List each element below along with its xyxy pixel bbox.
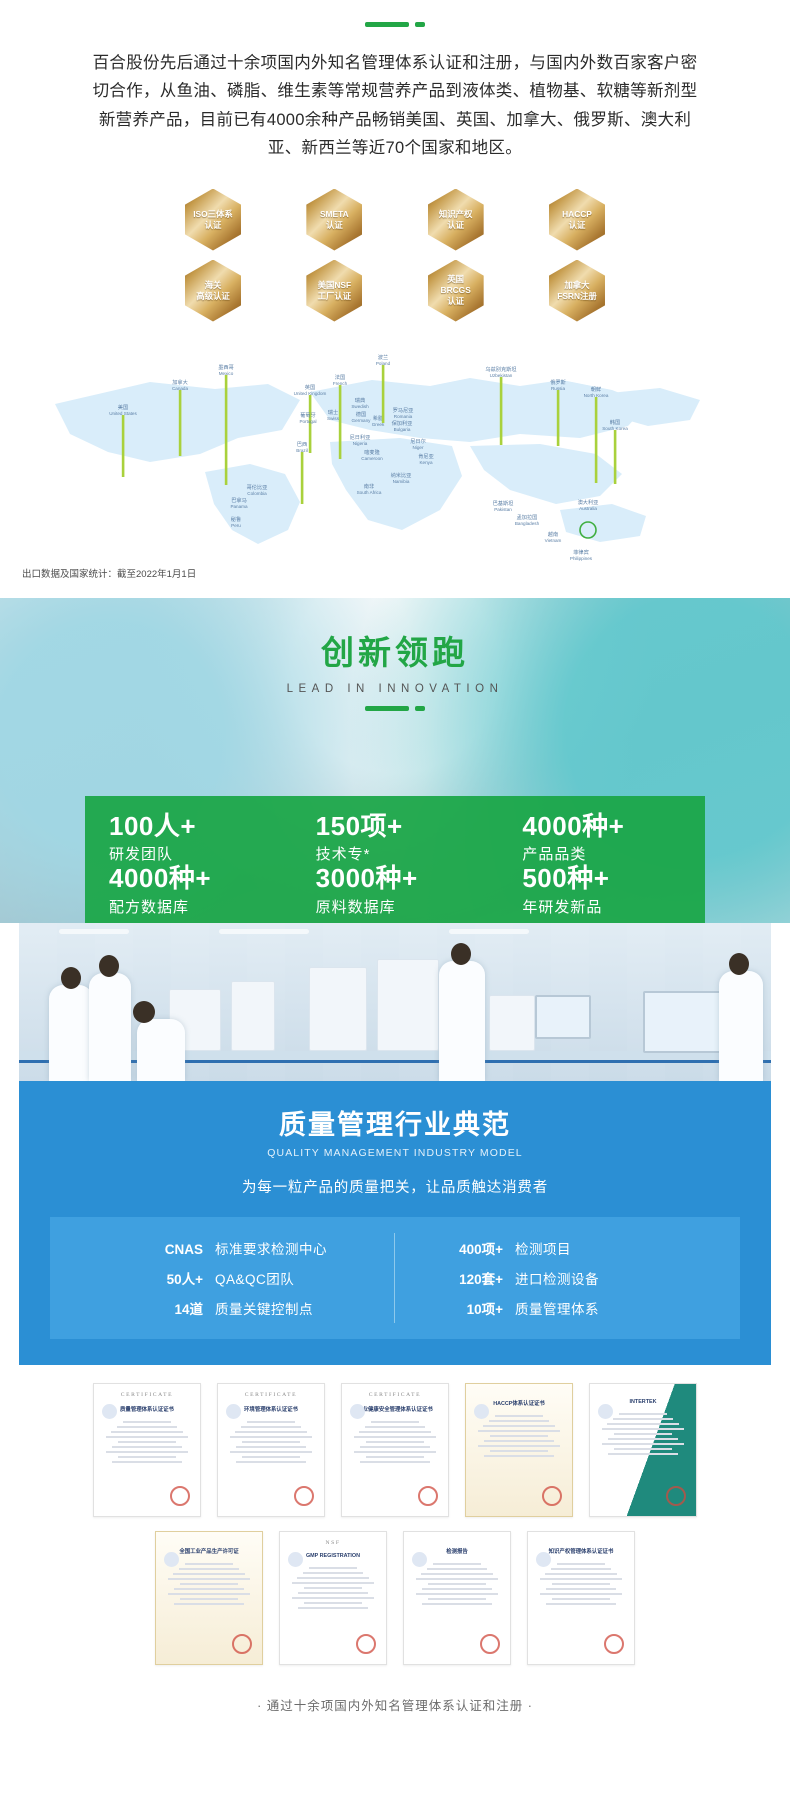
- certificate-seal-icon: [294, 1486, 314, 1506]
- certificate-body-lines: [475, 1415, 563, 1457]
- quality-lead: 为每一粒产品的质量把关，让品质触达消费者: [19, 1176, 771, 1197]
- quality-item-qaqc: 50人+ QA&QC团队: [95, 1263, 394, 1293]
- map-label-cn: 澳大利亚: [578, 498, 599, 506]
- stat-rd-team: 100人+ 研发团队: [85, 812, 292, 865]
- innovation-title: 创新领跑: [0, 626, 790, 674]
- map-label-en: Peru: [231, 523, 241, 528]
- map-label-cn: 法国: [335, 373, 345, 381]
- map-label-cn: 哥伦比亚: [247, 483, 268, 491]
- map-label-cn: 葡萄牙: [300, 411, 316, 419]
- map-label-cn: 加拿大: [172, 378, 188, 386]
- certificate-header: NSF: [280, 1532, 386, 1546]
- certificate-seal-icon: [356, 1634, 376, 1654]
- map-export-bar: [339, 385, 342, 459]
- quality-title: 质量管理行业典范: [19, 1103, 771, 1142]
- certificate-card[interactable]: CERTIFICATE职业健康安全管理体系认证证书: [341, 1383, 449, 1517]
- quality-value: 标准要求检测中心: [215, 1238, 327, 1258]
- badge-line1: HACCP: [562, 209, 592, 220]
- map-label-cn: 喀麦隆: [364, 448, 380, 456]
- badge-line1: 加拿大: [564, 280, 589, 291]
- map-label-cn: 肯尼亚: [418, 452, 434, 460]
- quality-stats-panel: CNAS 标准要求检测中心 50人+ QA&QC团队 14道 质量关键控制点 4…: [50, 1217, 740, 1339]
- map-label-cn: 美国: [118, 403, 128, 411]
- innovation-section: 创新领跑 LEAD IN INNOVATION 100人+ 研发团队 150项+…: [0, 598, 790, 923]
- certificate-seal-icon: [480, 1634, 500, 1654]
- map-label-en: Australia: [579, 506, 597, 511]
- badge-brcgs[interactable]: 英国 BRCGS 认证: [428, 260, 484, 322]
- map-label-en: Niger: [413, 445, 424, 450]
- certificate-header: [404, 1532, 510, 1540]
- certificate-header: [528, 1532, 634, 1540]
- map-label-cn: 尼日尔: [410, 437, 426, 445]
- map-label-en: North Korea: [584, 393, 609, 398]
- badge-iso[interactable]: ISO三体系 认证: [185, 189, 241, 251]
- map-label-cn: 越南: [548, 530, 558, 538]
- world-map: 美国United States加拿大Canada墨西哥Mexico巴拿马Pana…: [0, 334, 790, 562]
- map-label-en: Mexico: [219, 371, 234, 376]
- quality-item-systems: 10项+ 质量管理体系: [395, 1293, 695, 1323]
- lab-technician: [49, 985, 93, 1081]
- certificate-seal-icon: [542, 1486, 562, 1506]
- badge-ip[interactable]: 知识产权 认证: [428, 189, 484, 251]
- certificate-seal-icon: [232, 1634, 252, 1654]
- certificate-body-lines: [289, 1567, 377, 1609]
- map-label-cn: 孟加拉国: [517, 513, 538, 521]
- map-export-bar: [614, 430, 617, 484]
- world-map-svg: 美国United States加拿大Canada墨西哥Mexico巴拿马Pana…: [0, 334, 790, 562]
- map-label-cn: 保加利亚: [392, 419, 413, 427]
- quality-column-right: 400项+ 检测项目 120套+ 进口检测设备 10项+ 质量管理体系: [395, 1233, 695, 1323]
- intro-paragraph: 百合股份先后通过十余项国内外知名管理体系认证和注册，与国内外数百家客户密切合作，…: [85, 49, 705, 163]
- top-divider: [0, 22, 790, 27]
- stats-row-2: 4000种+ 配方数据库 3000种+ 原料数据库 500种+ 年研发新品: [85, 864, 705, 917]
- stat-formula-db: 4000种+ 配方数据库: [85, 864, 292, 917]
- map-label-en: Romania: [394, 414, 413, 419]
- certificate-emblem-icon: [102, 1404, 117, 1419]
- map-export-bar: [382, 365, 385, 423]
- certificate-card[interactable]: 检测报告: [403, 1531, 511, 1665]
- technician-head: [99, 955, 119, 977]
- map-label-cn: 希腊: [373, 414, 383, 422]
- map-label-cn: 瑞士: [328, 408, 338, 416]
- certificate-row-2: 全国工业产品生产许可证NSFGMP REGISTRATION检测报告知识产权管理…: [22, 1531, 768, 1665]
- technician-head: [451, 943, 471, 965]
- certificate-emblem-icon: [536, 1552, 551, 1567]
- badge-fsrn[interactable]: 加拿大 FSRN注册: [549, 260, 605, 322]
- map-label-cn: 秘鲁: [231, 515, 241, 523]
- quality-item-equipment: 120套+ 进口检测设备: [395, 1263, 695, 1293]
- certificate-card[interactable]: 全国工业产品生产许可证: [155, 1531, 263, 1665]
- innovation-divider: [0, 706, 790, 711]
- ceiling-lamp: [219, 929, 309, 934]
- divider-bar-long: [365, 22, 409, 27]
- quality-key: 14道: [141, 1298, 203, 1318]
- map-label-en: Cameroon: [361, 456, 383, 461]
- map-label-en: Germany: [352, 418, 372, 423]
- technician-head: [729, 953, 749, 975]
- certificate-seal-icon: [418, 1486, 438, 1506]
- badge-line2: 认证: [569, 220, 586, 231]
- lab-technician: [89, 973, 131, 1081]
- stat-label: 年研发新品: [522, 896, 705, 917]
- world-map-section: 美国United States加拿大Canada墨西哥Mexico巴拿马Pana…: [0, 334, 790, 580]
- certificate-emblem-icon: [288, 1552, 303, 1567]
- certificate-header: CERTIFICATE: [218, 1384, 324, 1398]
- map-export-bar: [225, 375, 228, 485]
- lab-monitor: [535, 995, 591, 1039]
- map-export-bar: [500, 377, 503, 445]
- badge-line1: 知识产权: [439, 209, 473, 220]
- stat-number: 4000种+: [109, 864, 292, 894]
- intro-section: 百合股份先后通过十余项国内外知名管理体系认证和注册，与国内外数百家客户密切合作，…: [0, 0, 790, 163]
- map-label-cn: 英国: [305, 383, 315, 391]
- certificate-card[interactable]: HACCP体系认证证书: [465, 1383, 573, 1517]
- map-label-cn: 巴西: [297, 441, 307, 448]
- map-label-en: Namibia: [393, 479, 410, 484]
- map-export-bar: [595, 397, 598, 483]
- map-label-en: Portugal: [299, 419, 316, 424]
- certificate-body-lines: [103, 1421, 191, 1463]
- quality-key: 50人+: [141, 1268, 203, 1288]
- map-label-en: Canada: [172, 386, 189, 391]
- stat-label: 原料数据库: [316, 896, 499, 917]
- map-label-en: Philippines: [570, 556, 593, 561]
- map-label-cn: 德国: [356, 410, 366, 418]
- quality-key: 400项+: [441, 1238, 503, 1258]
- quality-key: 120套+: [441, 1268, 503, 1288]
- certificate-seal-icon: [170, 1486, 190, 1506]
- badge-line2: 认证: [205, 220, 222, 231]
- quality-item-test-items: 400项+ 检测项目: [395, 1233, 695, 1263]
- technician-head: [133, 1001, 155, 1023]
- stat-number: 500种+: [522, 864, 705, 894]
- stat-number: 4000种+: [522, 812, 705, 842]
- badge-nsf[interactable]: 美国NSF 工厂认证: [306, 260, 362, 322]
- quality-value: 进口检测设备: [515, 1268, 599, 1288]
- ceiling-lamp: [449, 929, 529, 934]
- divider-bar-dot: [415, 706, 425, 711]
- badge-line2: 认证: [447, 220, 464, 231]
- lab-instrument: [231, 981, 275, 1051]
- quality-value: 质量管理体系: [515, 1298, 599, 1318]
- innovation-header: 创新领跑 LEAD IN INNOVATION: [0, 598, 790, 711]
- map-label-en: Swedish: [351, 404, 369, 409]
- certificate-header: [156, 1532, 262, 1540]
- stat-material-db: 3000种+ 原料数据库: [292, 864, 499, 917]
- stat-label: 产品品类: [522, 843, 705, 864]
- stat-label: 技术专*: [316, 843, 499, 864]
- laboratory-photo: [19, 923, 771, 1081]
- quality-value: 质量关键控制点: [215, 1298, 313, 1318]
- lab-instrument: [309, 967, 367, 1051]
- badge-line1: 美国NSF: [318, 280, 352, 291]
- map-label-en: South Korea: [602, 426, 628, 431]
- map-label-en: Brazil: [296, 448, 308, 453]
- certificate-card[interactable]: CERTIFICATE环境管理体系认证证书: [217, 1383, 325, 1517]
- divider-bar-long: [365, 706, 409, 711]
- map-label-en: United Kingdom: [294, 391, 327, 396]
- certificate-header: [466, 1384, 572, 1392]
- lab-technician: [719, 971, 763, 1081]
- map-label-en: Colombia: [247, 491, 267, 496]
- page-footer: · 通过十余项国内外知名管理体系认证和注册 ·: [0, 1685, 790, 1736]
- map-export-bar: [122, 415, 125, 477]
- stat-number: 100人+: [109, 812, 292, 842]
- badge-line1: SMETA: [320, 209, 349, 220]
- badge-row-2: 海关 高级认证 美国NSF 工厂认证 英国 BRCGS 认证 加拿大 FSRN注…: [185, 260, 605, 322]
- stat-number: 3000种+: [316, 864, 499, 894]
- quality-key: CNAS: [141, 1242, 203, 1257]
- certificate-body-lines: [351, 1421, 439, 1463]
- badge-line1: ISO三体系: [193, 209, 233, 220]
- map-label-cn: 波兰: [378, 353, 388, 361]
- map-label-en: Bulgaria: [394, 427, 411, 432]
- map-label-cn: 朝鲜: [591, 385, 601, 393]
- map-label-en: Vietnam: [545, 538, 562, 543]
- badge-haccp[interactable]: HACCP 认证: [549, 189, 605, 251]
- map-label-cn: 巴基斯坦: [493, 499, 514, 507]
- map-label-cn: 菲律宾: [573, 548, 589, 556]
- quality-value: 检测项目: [515, 1238, 571, 1258]
- certificate-emblem-icon: [226, 1404, 241, 1419]
- badge-row-1: ISO三体系 认证 SMETA 认证 知识产权 认证 HACCP 认证: [185, 189, 605, 251]
- map-label-cn: 俄罗斯: [550, 378, 566, 386]
- stats-row-1: 100人+ 研发团队 150项+ 技术专* 4000种+ 产品品类: [85, 812, 705, 865]
- certificate-emblem-icon: [164, 1552, 179, 1567]
- technician-head: [61, 967, 81, 989]
- certificate-seal-icon: [604, 1634, 624, 1654]
- quality-subtitle: QUALITY MANAGEMENT INDUSTRY MODEL: [19, 1147, 771, 1159]
- certificate-header: [590, 1384, 696, 1392]
- certificate-header: CERTIFICATE: [94, 1384, 200, 1398]
- quality-key: 10项+: [441, 1298, 503, 1318]
- stat-product-categories: 4000种+ 产品品类: [498, 812, 705, 865]
- certificate-emblem-icon: [474, 1404, 489, 1419]
- badge-line2: 工厂认证: [318, 291, 352, 302]
- quality-value: QA&QC团队: [215, 1268, 294, 1288]
- innovation-subtitle: LEAD IN INNOVATION: [0, 683, 790, 695]
- map-label-en: Russia: [551, 386, 565, 391]
- certificate-body-lines: [165, 1563, 253, 1605]
- badge-line2: FSRN注册: [557, 291, 597, 302]
- certificate-row-1: CERTIFICATE质量管理体系认证证书CERTIFICATE环境管理体系认证…: [22, 1383, 768, 1517]
- certificate-emblem-icon: [412, 1552, 427, 1567]
- lab-technician: [137, 1019, 185, 1081]
- badge-line3: 认证: [447, 296, 464, 307]
- map-label-en: United States: [109, 411, 137, 416]
- certificate-body-lines: [599, 1413, 687, 1455]
- map-label-cn: 南非: [364, 482, 374, 490]
- certificate-emblem-icon: [598, 1404, 613, 1419]
- stat-new-products: 500种+ 年研发新品: [498, 864, 705, 917]
- certificate-body-lines: [227, 1421, 315, 1463]
- map-export-bar: [557, 390, 560, 446]
- stat-label: 配方数据库: [109, 896, 292, 917]
- map-footnote: 出口数据及国家统计：截至2022年1月1日: [0, 562, 790, 580]
- map-label-cn: 瑞典: [355, 396, 365, 404]
- certificate-body-lines: [413, 1563, 501, 1605]
- certificate-header: CERTIFICATE: [342, 1384, 448, 1398]
- lab-instrument: [489, 995, 535, 1051]
- certification-badges: ISO三体系 认证 SMETA 认证 知识产权 认证 HACCP 认证 海关 高…: [185, 189, 605, 322]
- badge-line2: BRCGS: [441, 285, 471, 296]
- map-label-en: Swiss: [327, 416, 340, 421]
- badge-line2: 高级认证: [196, 291, 230, 302]
- badge-line1: 海关: [205, 280, 222, 291]
- certificate-card[interactable]: NSFGMP REGISTRATION: [279, 1531, 387, 1665]
- map-label-cn: 尼日利亚: [350, 433, 371, 441]
- innovation-stats-panel: 100人+ 研发团队 150项+ 技术专* 4000种+ 产品品类 4000种+…: [85, 796, 705, 923]
- stat-label: 研发团队: [109, 843, 292, 864]
- map-label-en: Pakistan: [494, 507, 512, 512]
- map-label-en: Nigeria: [353, 441, 368, 446]
- map-export-bar: [179, 390, 182, 456]
- map-label-cn: 韩国: [610, 418, 620, 426]
- quality-section: 质量管理行业典范 QUALITY MANAGEMENT INDUSTRY MOD…: [19, 1081, 771, 1365]
- map-export-bar: [309, 395, 312, 453]
- map-label-cn: 纳米比亚: [391, 471, 412, 479]
- map-label-en: South Africa: [357, 490, 382, 495]
- certificate-card[interactable]: CERTIFICATE质量管理体系认证证书: [93, 1383, 201, 1517]
- map-label-en: Uzbekistan: [490, 373, 513, 378]
- map-label-en: Poland: [376, 361, 391, 366]
- map-label-en: Panama: [230, 504, 248, 509]
- certificates-gallery: CERTIFICATE质量管理体系认证证书CERTIFICATE环境管理体系认证…: [0, 1365, 790, 1685]
- map-label-en: Bangladesh: [515, 521, 540, 526]
- quality-item-control-points: 14道 质量关键控制点: [95, 1293, 394, 1323]
- map-landmasses: [55, 378, 700, 544]
- certificate-body-lines: [537, 1563, 625, 1605]
- map-label-cn: 罗马尼亚: [393, 406, 414, 414]
- divider-bar-dot: [415, 22, 425, 27]
- stat-number: 150项+: [316, 812, 499, 842]
- badge-smeta[interactable]: SMETA 认证: [306, 189, 362, 251]
- map-label-en: French: [333, 381, 348, 386]
- badge-line1: 英国: [447, 274, 464, 285]
- product-detail-page: 百合股份先后通过十余项国内外知名管理体系认证和注册，与国内外数百家客户密切合作，…: [0, 0, 790, 1736]
- certificate-card[interactable]: 知识产权管理体系认证证书: [527, 1531, 635, 1665]
- certificate-emblem-icon: [350, 1404, 365, 1419]
- quality-column-left: CNAS 标准要求检测中心 50人+ QA&QC团队 14道 质量关键控制点: [95, 1233, 395, 1323]
- lab-technician: [439, 961, 485, 1081]
- badge-line2: 认证: [326, 220, 343, 231]
- certificate-seal-icon: [666, 1486, 686, 1506]
- map-label-en: Kenya: [419, 460, 432, 465]
- badge-customs[interactable]: 海关 高级认证: [185, 260, 241, 322]
- certificate-card[interactable]: INTERTEK: [589, 1383, 697, 1517]
- ceiling-lamp: [59, 929, 129, 934]
- map-label-cn: 乌兹别克斯坦: [485, 365, 516, 373]
- map-export-bar: [301, 452, 304, 504]
- stat-patents: 150项+ 技术专*: [292, 812, 499, 865]
- map-label-cn: 墨西哥: [218, 364, 234, 371]
- map-label-cn: 巴拿马: [231, 496, 247, 504]
- lab-instrument: [377, 959, 439, 1051]
- quality-item-cnas: CNAS 标准要求检测中心: [95, 1233, 394, 1263]
